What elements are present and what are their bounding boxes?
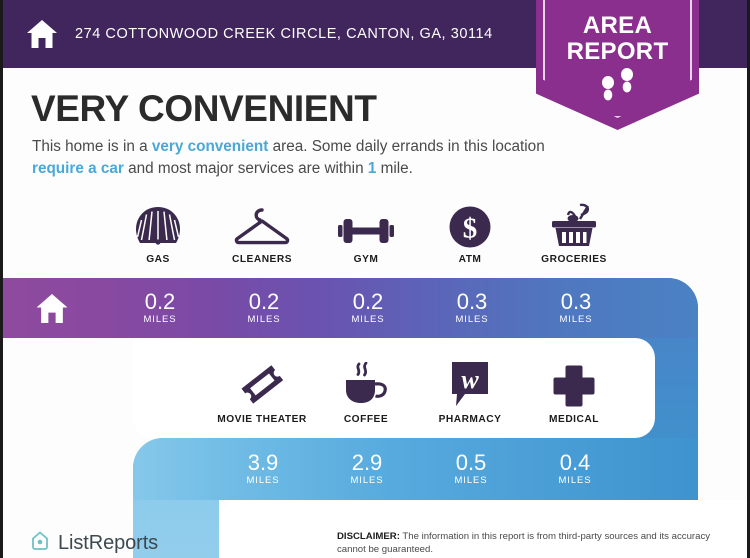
distance-cell: 0.3 MILES <box>524 278 628 338</box>
amenity-coffee: COFFEE <box>314 360 418 425</box>
distance-value: 0.2 <box>145 291 176 314</box>
distance-cell: 0.2 MILES <box>316 278 420 338</box>
amenity-label: PHARMACY <box>439 414 502 425</box>
listreports-logo: ListReports <box>29 530 158 557</box>
distance-value: 0.3 <box>561 291 592 314</box>
disclaimer-label: DISCLAIMER: <box>337 531 400 542</box>
distance-value: 3.9 <box>248 452 279 475</box>
distance-value: 2.9 <box>352 452 383 475</box>
coffee-cup-icon <box>342 360 390 408</box>
distance-cell: 0.4 MILES <box>523 438 627 500</box>
distance-cell: 2.9 MILES <box>315 438 419 500</box>
dollar-circle-icon: $ <box>449 200 491 248</box>
medical-cross-icon <box>552 360 596 408</box>
distance-unit: MILES <box>351 314 384 325</box>
row1-value-cells: 0.2 MILES 0.2 MILES 0.2 MILES 0.3 MILES … <box>0 278 698 338</box>
distance-cell: 0.3 MILES <box>420 278 524 338</box>
disclaimer: DISCLAIMER: The information in this repo… <box>337 530 737 556</box>
amenity-label: COFFEE <box>344 414 388 425</box>
distance-value: 0.3 <box>457 291 488 314</box>
amenity-gym: GYM <box>314 200 418 265</box>
distance-value: 0.5 <box>456 452 487 475</box>
amenity-label: ATM <box>459 254 482 265</box>
dumbbell-icon <box>338 200 394 248</box>
distance-cell: 0.2 MILES <box>108 278 212 338</box>
area-report-infographic: 274 COTTONWOOD CREEK CIRCLE, CANTON, GA,… <box>0 0 750 558</box>
amenity-icon-row-2: MOVIE THEATER COFFEE w PHARMACY <box>210 360 626 425</box>
amenity-gas: GAS <box>106 200 210 265</box>
movie-ticket-icon <box>238 360 286 408</box>
clothes-hanger-icon <box>234 200 290 248</box>
amenity-icon-row-1: GAS CLEANERS GYM <box>106 200 626 265</box>
distance-unit: MILES <box>559 314 592 325</box>
distance-band-row-2: 3.9 MILES 2.9 MILES 0.5 MILES 0.4 MILES <box>133 438 698 500</box>
amenity-cleaners: CLEANERS <box>210 200 314 265</box>
amenity-atm: $ ATM <box>418 200 522 265</box>
distance-cell: 3.9 MILES <box>211 438 315 500</box>
distance-unit: MILES <box>455 314 488 325</box>
distance-value: 0.2 <box>353 291 384 314</box>
amenity-movie-theater: MOVIE THEATER <box>210 360 314 425</box>
amenity-groceries: GROCERIES <box>522 200 626 265</box>
amenity-label: GYM <box>354 254 379 265</box>
amenity-label: MOVIE THEATER <box>217 414 307 425</box>
distance-unit: MILES <box>454 475 487 486</box>
svg-text:w: w <box>461 365 479 394</box>
amenity-label: CLEANERS <box>232 254 292 265</box>
amenity-label: GROCERIES <box>541 254 607 265</box>
distance-unit: MILES <box>558 475 591 486</box>
distance-unit: MILES <box>247 314 280 325</box>
distance-value: 0.2 <box>249 291 280 314</box>
distance-cell: 0.5 MILES <box>419 438 523 500</box>
svg-text:$: $ <box>463 213 478 245</box>
distance-unit: MILES <box>350 475 383 486</box>
distance-ribbon: 3.9 MILES 2.9 MILES 0.5 MILES 0.4 MILES <box>3 0 750 558</box>
logo-text: ListReports <box>58 532 158 555</box>
home-icon <box>0 278 108 338</box>
amenity-label: GAS <box>146 254 170 265</box>
distance-unit: MILES <box>143 314 176 325</box>
distance-cell: 0.2 MILES <box>212 278 316 338</box>
walgreens-w-icon: w <box>448 360 492 408</box>
listreports-tag-icon <box>29 530 51 557</box>
grocery-basket-icon <box>550 200 598 248</box>
row2-value-cells: 3.9 MILES 2.9 MILES 0.5 MILES 0.4 MILES <box>133 438 698 500</box>
amenity-label: MEDICAL <box>549 414 599 425</box>
amenity-pharmacy: w PHARMACY <box>418 360 522 425</box>
distance-value: 0.4 <box>560 452 591 475</box>
amenity-medical: MEDICAL <box>522 360 626 425</box>
distance-unit: MILES <box>246 475 279 486</box>
gas-shell-icon <box>135 200 181 248</box>
distance-band-row-1: 0.2 MILES 0.2 MILES 0.2 MILES 0.3 MILES … <box>0 278 698 338</box>
